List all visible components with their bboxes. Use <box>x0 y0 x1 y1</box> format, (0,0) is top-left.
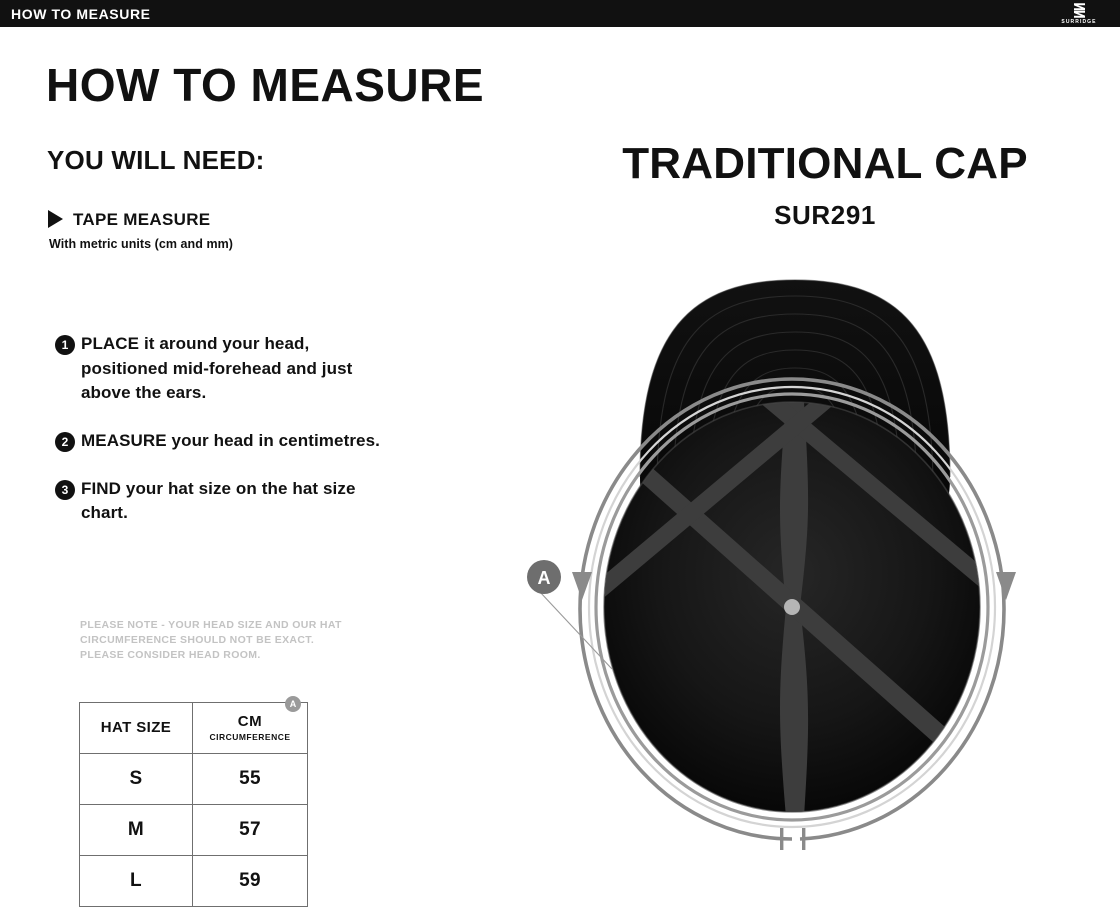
cell-value: 57 <box>239 819 261 840</box>
product-name: TRADITIONAL CAP <box>530 142 1120 186</box>
list-item: 3 FIND your hat size on the hat size cha… <box>55 477 455 526</box>
note-line: CIRCUMFERENCE SHOULD NOT BE EXACT. <box>80 633 342 648</box>
step-text: MEASURE your head in centimetres. <box>81 429 380 454</box>
cell-value: L <box>130 870 142 891</box>
steps-list: 1 PLACE it around your head, positioned … <box>55 332 455 549</box>
table-row: S 55 <box>80 754 308 805</box>
cell-value: 55 <box>239 768 261 789</box>
disclaimer-note: PLEASE NOTE - YOUR HEAD SIZE AND OUR HAT… <box>80 618 342 663</box>
header-title: HOW TO MEASURE <box>11 7 151 21</box>
column-header-hat-size: HAT SIZE <box>80 703 193 754</box>
product-code: SUR291 <box>530 202 1120 228</box>
list-item: 1 PLACE it around your head, positioned … <box>55 332 455 406</box>
measure-end-tick-left <box>780 828 783 850</box>
step-text: PLACE it around your head, positioned mi… <box>81 332 401 406</box>
table-header-row: HAT SIZE CM CIRCUMFERENCE A <box>80 703 308 754</box>
surridge-s-monogram-icon <box>1072 2 1087 19</box>
table-row: L 59 <box>80 856 308 907</box>
cap-button-icon <box>784 599 800 615</box>
you-will-need-heading: YOU WILL NEED: <box>47 147 265 173</box>
cell-value: S <box>130 768 143 789</box>
brand-wordmark: SURRIDGE <box>1061 20 1096 25</box>
step-text: FIND your hat size on the hat size chart… <box>81 477 401 526</box>
callout-badge-label: A <box>538 568 551 588</box>
table-row: M 57 <box>80 805 308 856</box>
app-header-bar: HOW TO MEASURE SURRIDGE <box>0 0 1120 27</box>
column-header-cm-circumference: CM CIRCUMFERENCE A <box>193 703 308 754</box>
cell-cm: 59 <box>193 856 308 907</box>
step-number-badge: 2 <box>55 432 75 452</box>
step-number-badge: 3 <box>55 480 75 500</box>
note-line: PLEASE CONSIDER HEAD ROOM. <box>80 648 342 663</box>
measure-end-tick-right <box>802 828 805 850</box>
column-header-sublabel: CIRCUMFERENCE <box>194 732 306 742</box>
cell-hat-size: L <box>80 856 193 907</box>
measurement-badge-a: A <box>285 696 301 712</box>
tool-subtitle: With metric units (cm and mm) <box>49 237 233 251</box>
step-number-badge: 1 <box>55 335 75 355</box>
measure-arrow-right-icon <box>996 572 1016 600</box>
cell-value: M <box>128 819 144 840</box>
cell-value: 59 <box>239 870 261 891</box>
hat-size-chart-table: HAT SIZE CM CIRCUMFERENCE A S 55 <box>79 702 308 907</box>
brand-logo: SURRIDGE <box>1056 1 1102 26</box>
cell-hat-size: S <box>80 754 193 805</box>
triangle-bullet-icon <box>48 210 63 228</box>
cell-cm: 57 <box>193 805 308 856</box>
cell-hat-size: M <box>80 805 193 856</box>
instructions-column: HOW TO MEASURE YOU WILL NEED: TAPE MEASU… <box>0 27 560 883</box>
column-header-label: CM <box>194 714 306 731</box>
cap-diagram: A <box>510 272 1100 882</box>
tool-item-tape-measure: TAPE MEASURE <box>48 210 210 228</box>
tool-name-label: TAPE MEASURE <box>73 211 210 228</box>
list-item: 2 MEASURE your head in centimetres. <box>55 429 455 454</box>
note-line: PLEASE NOTE - YOUR HEAD SIZE AND OUR HAT <box>80 618 342 633</box>
page-title: HOW TO MEASURE <box>46 62 484 108</box>
product-diagram-column: TRADITIONAL CAP SUR291 <box>530 27 1120 883</box>
cell-cm: 55 <box>193 754 308 805</box>
column-header-label: HAT SIZE <box>101 719 171 736</box>
